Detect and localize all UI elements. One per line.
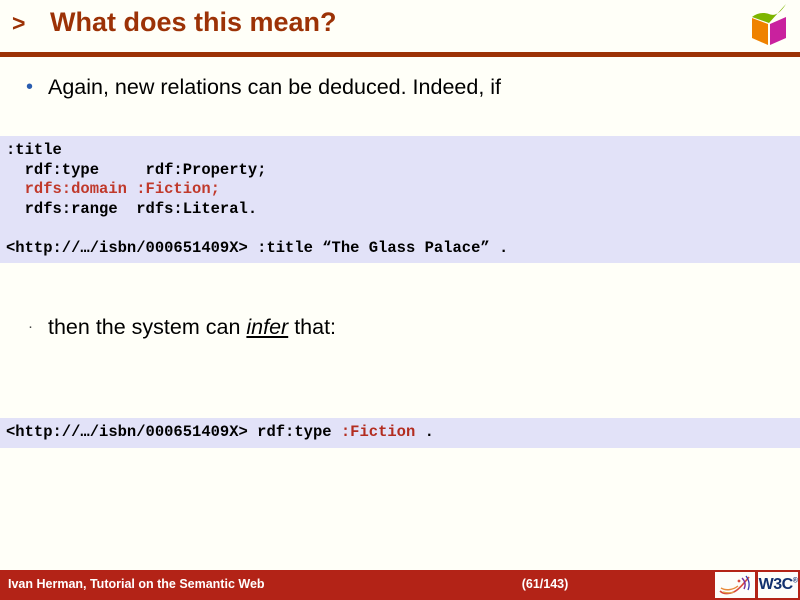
code-line: rdfs:range rdfs:Literal.: [6, 200, 800, 220]
footer-page-number: (61/143): [500, 577, 590, 591]
slide-header: > What does this mean?: [0, 0, 800, 52]
w3c-registered-mark: ®: [793, 578, 798, 585]
code-segment: rdfs:domain :Fiction;: [6, 180, 220, 198]
bullet-dash-icon: ·: [22, 312, 48, 342]
code-segment: rdfs:range rdfs:Literal.: [6, 200, 257, 218]
bullet-text-2-after: that:: [288, 315, 336, 339]
code-segment: .: [415, 423, 434, 441]
code-line: rdfs:domain :Fiction;: [6, 180, 800, 200]
page-title: What does this mean?: [50, 7, 337, 38]
footer-author: Ivan Herman, Tutorial on the Semantic We…: [8, 577, 265, 591]
bullet-item-1: • Again, new relations can be deduced. I…: [22, 72, 762, 102]
code-block-rdfs-schema: :title rdf:type rdf:Property; rdfs:domai…: [0, 136, 800, 263]
code-line: <http://…/isbn/000651409X> :title “The G…: [6, 239, 800, 259]
bullet-text-2-before: then the system can: [48, 315, 246, 339]
code-segment: <http://…/isbn/000651409X> rdf:type: [6, 423, 341, 441]
bullet-item-2: · then the system can infer that:: [22, 312, 762, 342]
code-segment: :Fiction: [341, 423, 415, 441]
code-segment: :title: [6, 141, 62, 159]
w3c-logo-text: W3C®: [759, 577, 798, 593]
w3c-logo-label: W3C: [759, 576, 793, 593]
footer-logos: W3C®: [715, 572, 798, 598]
header-divider: [0, 52, 800, 57]
code-line: :title: [6, 141, 800, 161]
code-segment: rdf:type rdf:Property;: [6, 161, 266, 179]
code-block-inferred-triple: <http://…/isbn/000651409X> rdf:type :Fic…: [0, 418, 800, 448]
code-segment: [6, 219, 15, 237]
bullet-dot-icon: •: [22, 72, 48, 102]
code-line: rdf:type rdf:Property;: [6, 161, 800, 181]
bullet-text-1: Again, new relations can be deduced. Ind…: [48, 72, 501, 102]
slide-footer: Ivan Herman, Tutorial on the Semantic We…: [0, 570, 800, 600]
title-chevron-icon: >: [12, 12, 25, 35]
w3c-logo: W3C®: [758, 572, 798, 598]
bullet-text-2-emphasis: infer: [246, 315, 288, 339]
cube-logo: [746, 2, 792, 46]
code-line: <http://…/isbn/000651409X> rdf:type :Fic…: [6, 423, 800, 443]
calligraphy-logo: [715, 572, 755, 598]
code-segment: <http://…/isbn/000651409X> :title “The G…: [6, 239, 508, 257]
bullet-text-2: then the system can infer that:: [48, 312, 336, 342]
code-line: [6, 219, 800, 239]
